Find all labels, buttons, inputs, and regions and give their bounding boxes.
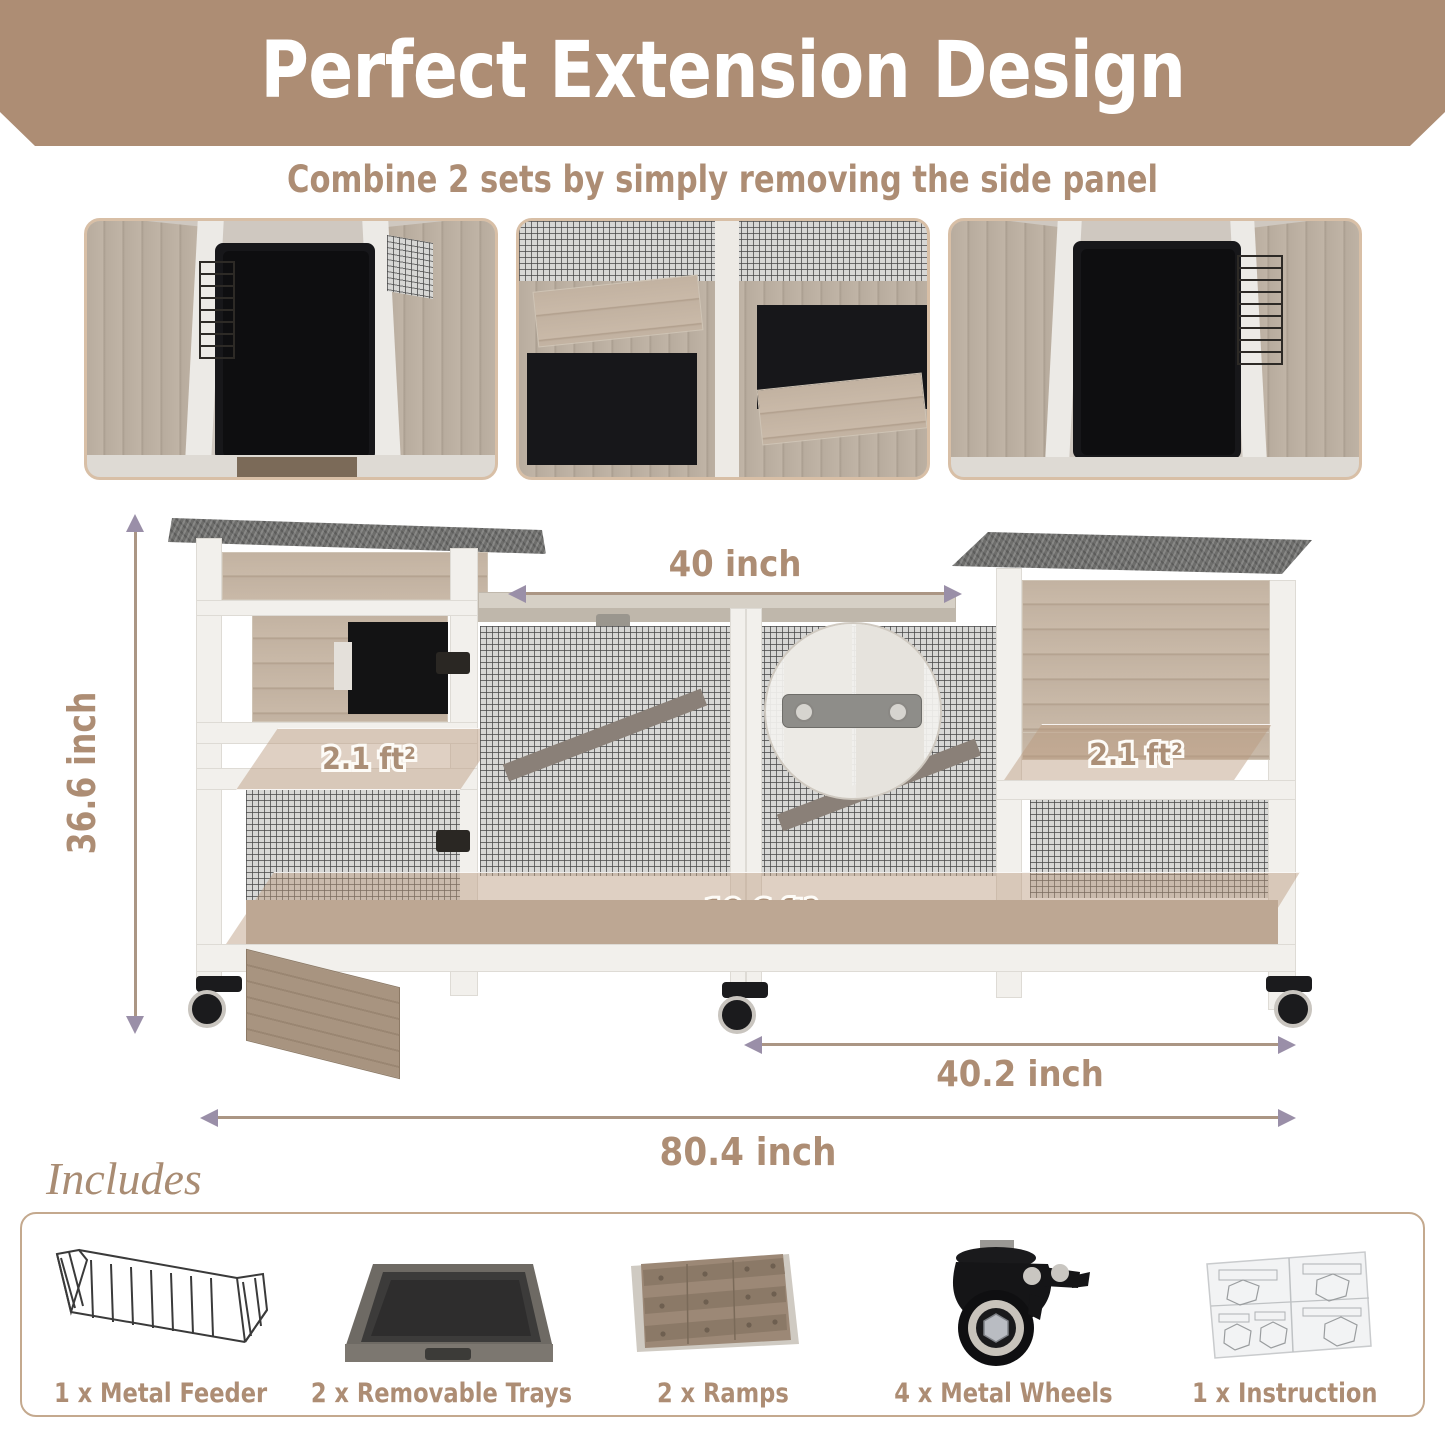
page-title: Perfect Extension Design bbox=[260, 32, 1185, 116]
area-label-left-upper: 2.1 ft² bbox=[322, 742, 416, 777]
area-overlay-left-upper: 2.1 ft² bbox=[236, 728, 502, 790]
left-house-top-rail bbox=[196, 600, 478, 616]
photo-two-compartments-joined bbox=[516, 218, 930, 480]
height-arrow-line bbox=[134, 528, 137, 1022]
include-label-metal-feeder: 1 x Metal Feeder bbox=[54, 1378, 267, 1409]
right-house-panel bbox=[1022, 580, 1270, 736]
height-arrow-head-top bbox=[126, 514, 144, 532]
connector-screw-left bbox=[794, 702, 814, 722]
base-rail bbox=[196, 944, 1296, 972]
caster-wheel-front-right bbox=[1262, 976, 1324, 1030]
include-item-metal-wheels: 4 x Metal Wheels bbox=[863, 1212, 1144, 1417]
right-lower-rail bbox=[996, 780, 1296, 800]
run-top-lid-edge bbox=[478, 608, 956, 622]
right-base-arrow-head-right bbox=[1278, 1036, 1296, 1054]
header-banner: Perfect Extension Design bbox=[0, 0, 1445, 148]
includes-items-row: 1 x Metal Feeder 2 x Removable Trays bbox=[20, 1212, 1425, 1417]
left-house-window bbox=[348, 622, 448, 714]
include-label-metal-wheels: 4 x Metal Wheels bbox=[894, 1378, 1112, 1409]
hinge-left-upper bbox=[436, 652, 470, 674]
area-overlay-right-upper: 2.1 ft² bbox=[1000, 724, 1272, 786]
dimension-height-label: 36.6 inch bbox=[60, 653, 104, 892]
include-item-metal-feeder: 1 x Metal Feeder bbox=[20, 1212, 301, 1417]
total-width-arrow-head-right bbox=[1278, 1109, 1296, 1127]
dimension-total-width-label: 80.4 inch bbox=[216, 1130, 1280, 1174]
run-mesh-left bbox=[480, 626, 734, 876]
photo-interior-left-compartment bbox=[84, 218, 498, 480]
caster-wheel-center bbox=[712, 982, 774, 1036]
left-roof bbox=[168, 518, 546, 554]
include-label-removable-trays: 2 x Removable Trays bbox=[311, 1378, 572, 1409]
tray-icon bbox=[301, 1234, 582, 1374]
dimension-right-base-label: 40.2 inch bbox=[760, 1054, 1280, 1095]
top-span-arrow-head-left bbox=[508, 585, 526, 603]
hinge-left-lower bbox=[436, 830, 470, 852]
right-base-arrow-head-left bbox=[744, 1036, 762, 1054]
ramp-icon bbox=[582, 1234, 863, 1374]
wire-feeder-icon bbox=[20, 1234, 301, 1374]
include-label-instruction: 1 x Instruction bbox=[1192, 1378, 1378, 1409]
photo-strip bbox=[84, 218, 1362, 480]
height-arrow-head-bottom bbox=[126, 1016, 144, 1034]
include-item-removable-trays: 2 x Removable Trays bbox=[301, 1212, 582, 1417]
instruction-sheet-icon bbox=[1144, 1234, 1425, 1374]
include-item-ramps: 2 x Ramps bbox=[582, 1212, 863, 1417]
includes-title: Includes bbox=[46, 1152, 202, 1205]
caster-wheel-front-left bbox=[186, 976, 248, 1030]
page-subtitle: Combine 2 sets by simply removing the si… bbox=[58, 158, 1387, 201]
right-base-arrow-line bbox=[760, 1043, 1280, 1046]
product-dimension-diagram: 36.6 inch 2.1 ft² bbox=[0, 496, 1445, 1156]
photo-interior-right-compartment bbox=[948, 218, 1362, 480]
dimension-top-span-label: 40 inch bbox=[524, 544, 946, 585]
run-floor bbox=[246, 900, 1278, 944]
area-label-right-upper: 2.1 ft² bbox=[1089, 738, 1183, 773]
left-house-latch bbox=[334, 642, 352, 690]
left-house-upper-panel bbox=[222, 552, 488, 600]
top-span-arrow-line bbox=[524, 592, 946, 595]
total-width-arrow-head-left bbox=[200, 1109, 218, 1127]
top-span-arrow-head-right bbox=[944, 585, 962, 603]
total-width-arrow-line bbox=[216, 1116, 1280, 1119]
connector-callout bbox=[764, 622, 942, 800]
connector-screw-right bbox=[888, 702, 908, 722]
include-label-ramps: 2 x Ramps bbox=[657, 1378, 789, 1409]
caster-wheel-icon bbox=[863, 1234, 1144, 1374]
include-item-instruction: 1 x Instruction bbox=[1144, 1212, 1425, 1417]
infographic-page: Perfect Extension Design Combine 2 sets … bbox=[0, 0, 1445, 1432]
